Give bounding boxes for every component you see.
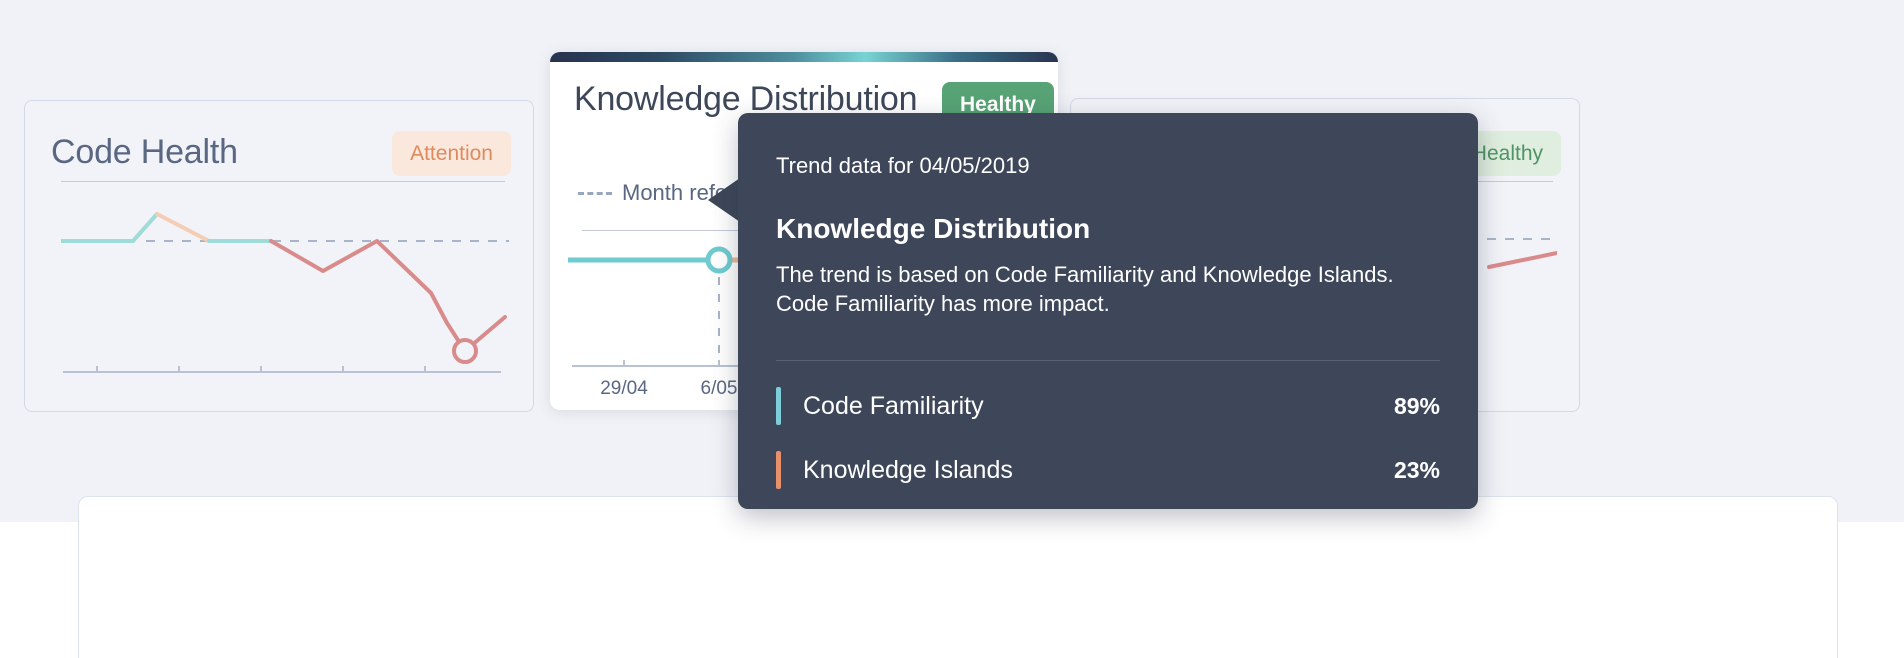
page-title: Code Health bbox=[51, 133, 238, 172]
metric-color-bar bbox=[776, 451, 781, 489]
card-code-health[interactable]: Code Health Attention bbox=[24, 100, 534, 412]
tooltip-divider bbox=[776, 360, 1440, 361]
metric-value: 89% bbox=[1394, 393, 1440, 420]
screen-root: Code Health Attention Knowledge Dis bbox=[0, 0, 1904, 658]
metric-value: 23% bbox=[1394, 457, 1440, 484]
tooltip-arrow bbox=[708, 178, 740, 222]
status-badge: Attention bbox=[392, 131, 511, 176]
data-point-marker bbox=[708, 249, 730, 271]
x-tick-label-0: 29/04 bbox=[600, 378, 648, 399]
metric-label: Code Familiarity bbox=[803, 392, 1394, 421]
tooltip-description: The trend is based on Code Familiarity a… bbox=[776, 261, 1416, 318]
tooltip-title: Knowledge Distribution bbox=[776, 213, 1440, 245]
code-health-chart[interactable] bbox=[61, 197, 509, 397]
metric-label: Knowledge Islands bbox=[803, 456, 1394, 485]
dashed-line-icon bbox=[578, 192, 612, 195]
data-point-marker bbox=[454, 340, 476, 362]
tooltip-metric-row: Knowledge Islands 23% bbox=[776, 451, 1440, 489]
trend-tooltip: Trend data for 04/05/2019 Knowledge Dist… bbox=[738, 113, 1478, 509]
tooltip-metric-row: Code Familiarity 89% bbox=[776, 387, 1440, 425]
divider bbox=[61, 181, 505, 182]
card-accent-bar bbox=[550, 52, 1058, 62]
metric-color-bar bbox=[776, 387, 781, 425]
tooltip-date: Trend data for 04/05/2019 bbox=[776, 153, 1440, 179]
bottom-panel[interactable] bbox=[78, 496, 1838, 658]
x-tick-label-1: 6/05 bbox=[701, 378, 738, 399]
